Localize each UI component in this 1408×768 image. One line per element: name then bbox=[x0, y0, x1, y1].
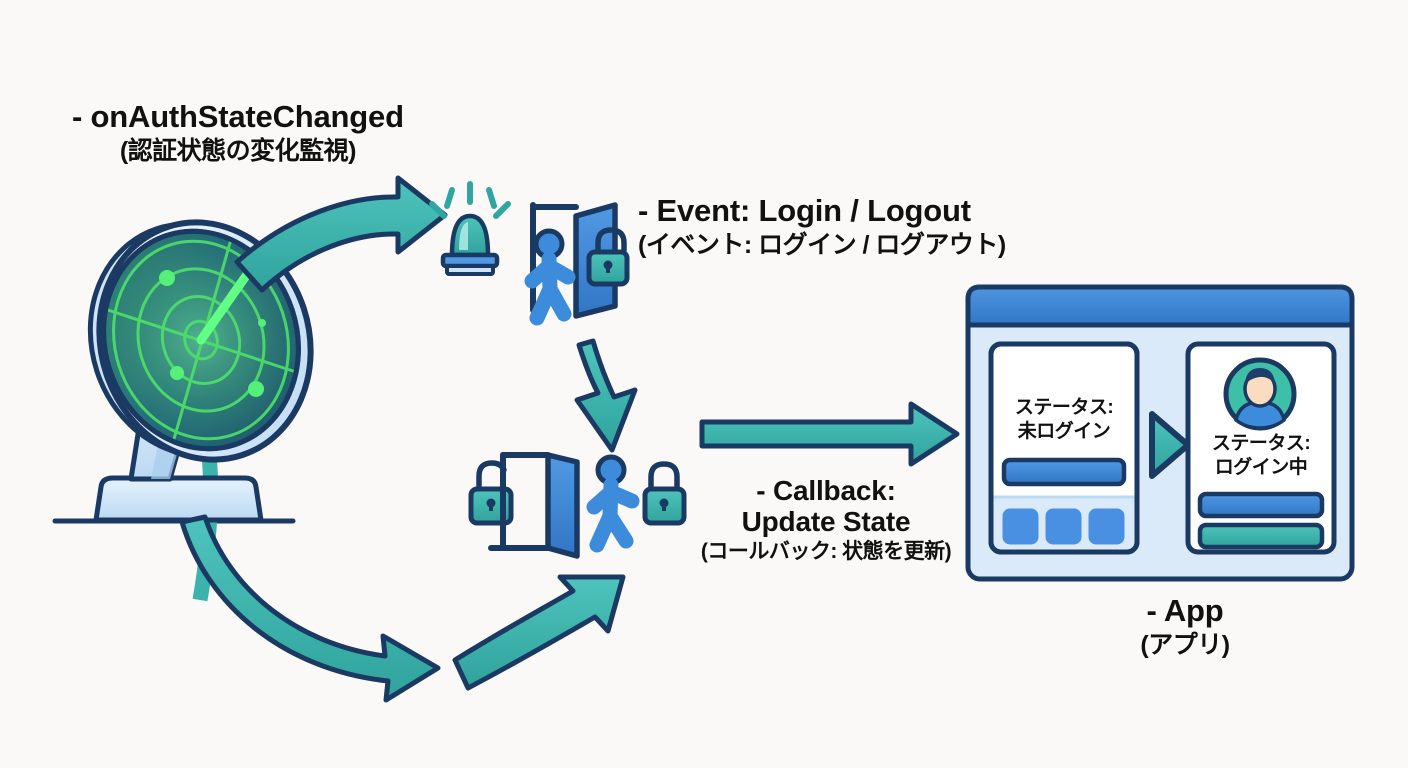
logged-out-status-line1: ステータス: bbox=[991, 396, 1137, 420]
logged-in-status-line2: ログイン中 bbox=[1188, 456, 1334, 480]
primary-bar[interactable] bbox=[1004, 460, 1124, 484]
arrow-down-icon bbox=[577, 341, 635, 450]
curved-arrow-up-right-icon-2 bbox=[455, 577, 623, 688]
logged-out-status-text: ステータス: 未ログイン bbox=[991, 396, 1137, 444]
status-card-logged-out[interactable] bbox=[991, 344, 1137, 552]
diagram-canvas: - onAuthStateChanged (認証状態の変化監視) - Event… bbox=[0, 0, 1408, 768]
label-onauthstatechanged: - onAuthStateChanged (認証状態の変化監視) bbox=[72, 100, 404, 165]
tile-3[interactable] bbox=[1089, 509, 1124, 544]
curved-arrow-up-right-icon bbox=[237, 178, 445, 290]
tile-1[interactable] bbox=[1003, 509, 1038, 544]
person-leaving-door-icon bbox=[471, 455, 684, 556]
logged-in-status-text: ステータス: ログイン中 bbox=[1188, 432, 1334, 480]
straight-arrow-right-icon bbox=[702, 404, 957, 464]
logged-out-status-line2: 未ログイン bbox=[991, 420, 1137, 444]
person-entering-door-icon bbox=[532, 205, 627, 318]
event-label-jp: (イベント: ログイン / ログアウト) bbox=[638, 231, 1006, 259]
listener-label-en: - onAuthStateChanged bbox=[72, 100, 404, 135]
event-label-en: - Event: Login / Logout bbox=[638, 194, 1006, 229]
app-label-jp: (アプリ) bbox=[1060, 631, 1310, 659]
alert-beacon-icon bbox=[432, 184, 508, 274]
tile-2[interactable] bbox=[1046, 509, 1081, 544]
listener-label-jp: (認証状態の変化監視) bbox=[72, 137, 404, 165]
label-event: - Event: Login / Logout (イベント: ログイン / ログ… bbox=[638, 194, 1006, 259]
callback-label-line2: Update State bbox=[686, 506, 966, 537]
logged-in-status-line1: ステータス: bbox=[1188, 432, 1334, 456]
callback-label-jp: (コールバック: 状態を更新) bbox=[686, 540, 966, 564]
user-avatar-icon bbox=[1226, 360, 1294, 428]
callback-label-line1: - Callback: bbox=[686, 475, 966, 506]
curved-arrow-down-right-icon bbox=[182, 517, 438, 700]
primary-bar[interactable] bbox=[1200, 494, 1322, 516]
label-app: - App (アプリ) bbox=[1060, 594, 1310, 659]
label-callback: - Callback: Update State (コールバック: 状態を更新) bbox=[686, 475, 966, 563]
app-label-en: - App bbox=[1060, 594, 1310, 629]
secondary-bar[interactable] bbox=[1200, 525, 1322, 547]
